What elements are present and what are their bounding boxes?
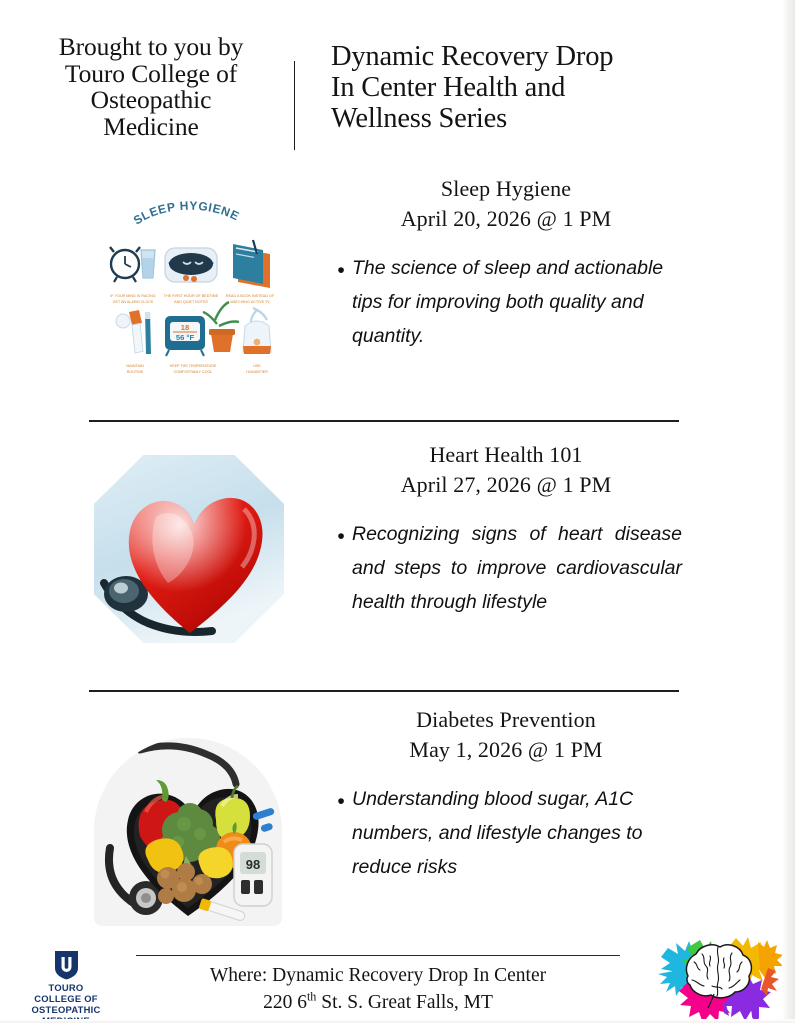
session-heart-health: Heart Health 101 April 27, 2026 @ 1 PM •… <box>0 440 795 680</box>
svg-text:56 °F: 56 °F <box>176 333 195 342</box>
presenter-heading: Brought to you by Touro College of Osteo… <box>20 34 282 140</box>
session-bullet-text: Recognizing signs of heart disease and s… <box>352 517 682 620</box>
session-text-diabetes: Diabetes Prevention May 1, 2026 @ 1 PM •… <box>330 705 682 885</box>
bullet-marker-icon: • <box>330 517 352 547</box>
footer-where-line: Where: Dynamic Recovery Drop In Center <box>136 963 620 990</box>
session-title: Sleep Hygiene <box>330 174 682 204</box>
footer-address-superscript: th <box>307 989 316 1003</box>
page-edge-right <box>782 0 795 1023</box>
brain-paint-splash-icon <box>650 934 782 1020</box>
page-title-line-3: Wellness Series <box>331 103 731 134</box>
touro-shield-icon <box>53 950 80 980</box>
svg-text:98: 98 <box>246 857 260 872</box>
healthy-food-glucometer-photo: 98 <box>94 738 282 926</box>
touro-logo-name: TOURO COLLEGE OF OSTEOPATHIC MEDICINE <box>17 983 115 1023</box>
svg-text:18: 18 <box>181 323 189 332</box>
session-image-sleep-hygiene: SLEEP HYGIENE <box>93 196 287 394</box>
page-edge-bottom <box>0 1019 795 1023</box>
page-title-line-1: Dynamic Recovery Drop <box>331 41 731 72</box>
session-bullet-text: The science of sleep and actionable tips… <box>352 251 682 354</box>
presenter-line-1: Brought to you by <box>20 34 282 61</box>
session-diabetes-prevention: 98 Diabetes Prevention May 1, 2026 @ 1 P… <box>0 705 795 935</box>
heart-stethoscope-photo <box>94 455 284 643</box>
footer-location: Where: Dynamic Recovery Drop In Center 2… <box>136 963 620 1017</box>
header-vertical-divider <box>294 61 295 150</box>
svg-text:THE FIRST HOUR OF BEDTIME: THE FIRST HOUR OF BEDTIME <box>164 294 219 298</box>
session-image-heart-health <box>94 455 284 648</box>
session-title: Heart Health 101 <box>330 440 682 470</box>
svg-text:USE: USE <box>253 364 261 368</box>
session-bullet: • Recognizing signs of heart disease and… <box>330 517 682 620</box>
footer-address-suffix: St. S. Great Falls, MT <box>316 992 493 1013</box>
bullet-marker-icon: • <box>330 251 352 281</box>
footer-address-line: 220 6th St. S. Great Falls, MT <box>136 990 620 1017</box>
session-text-heart-health: Heart Health 101 April 27, 2026 @ 1 PM •… <box>330 440 682 620</box>
section-divider-1 <box>89 420 679 422</box>
flyer-header: Brought to you by Touro College of Osteo… <box>0 34 795 159</box>
sleep-hygiene-infographic: SLEEP HYGIENE <box>93 196 287 389</box>
section-divider-2 <box>89 690 679 692</box>
svg-text:ROUTINE: ROUTINE <box>127 370 144 374</box>
page-title: Dynamic Recovery Drop In Center Health a… <box>331 41 731 134</box>
session-bullet: • The science of sleep and actionable ti… <box>330 251 682 354</box>
svg-text:KEEP THE TEMPERATURE: KEEP THE TEMPERATURE <box>170 364 217 368</box>
touro-logo: TOURO COLLEGE OF OSTEOPATHIC MEDICINE TO… <box>17 950 115 1023</box>
session-sleep-hygiene: SLEEP HYGIENE <box>0 174 795 404</box>
brain-splash-logo <box>650 934 782 1020</box>
session-date: May 1, 2026 @ 1 PM <box>330 735 682 765</box>
session-title: Diabetes Prevention <box>330 705 682 735</box>
svg-text:GET AN ALARM CLOCK: GET AN ALARM CLOCK <box>113 300 154 304</box>
presenter-line-3: Osteopathic <box>20 87 282 114</box>
svg-text:HUMIDIFIER: HUMIDIFIER <box>246 370 268 374</box>
page-title-line-2: In Center Health and <box>331 72 731 103</box>
svg-text:AND QUIET NOTES: AND QUIET NOTES <box>174 300 208 304</box>
session-text-sleep-hygiene: Sleep Hygiene April 20, 2026 @ 1 PM • Th… <box>330 174 682 354</box>
session-image-diabetes: 98 <box>94 738 282 931</box>
session-bullet: • Understanding blood sugar, A1C numbers… <box>330 782 682 885</box>
session-date: April 20, 2026 @ 1 PM <box>330 204 682 234</box>
flyer-page: Brought to you by Touro College of Osteo… <box>0 0 795 1023</box>
svg-text:IF YOUR MIND IS RACING: IF YOUR MIND IS RACING <box>110 294 155 298</box>
footer-divider <box>136 955 620 956</box>
footer-address-prefix: 220 6 <box>263 992 307 1013</box>
session-bullet-text: Understanding blood sugar, A1C numbers, … <box>352 782 682 885</box>
presenter-line-2: Touro College of <box>20 61 282 88</box>
bullet-marker-icon: • <box>330 782 352 812</box>
svg-text:COMFORTABLY COOL: COMFORTABLY COOL <box>174 370 213 374</box>
presenter-line-4: Medicine <box>20 114 282 141</box>
session-date: April 27, 2026 @ 1 PM <box>330 470 682 500</box>
svg-text:WATCHING ACTIVE TV: WATCHING ACTIVE TV <box>230 300 270 304</box>
svg-text:READ A BOOK INSTEAD OF: READ A BOOK INSTEAD OF <box>226 294 275 298</box>
svg-text:MAINTAIN: MAINTAIN <box>126 364 144 368</box>
